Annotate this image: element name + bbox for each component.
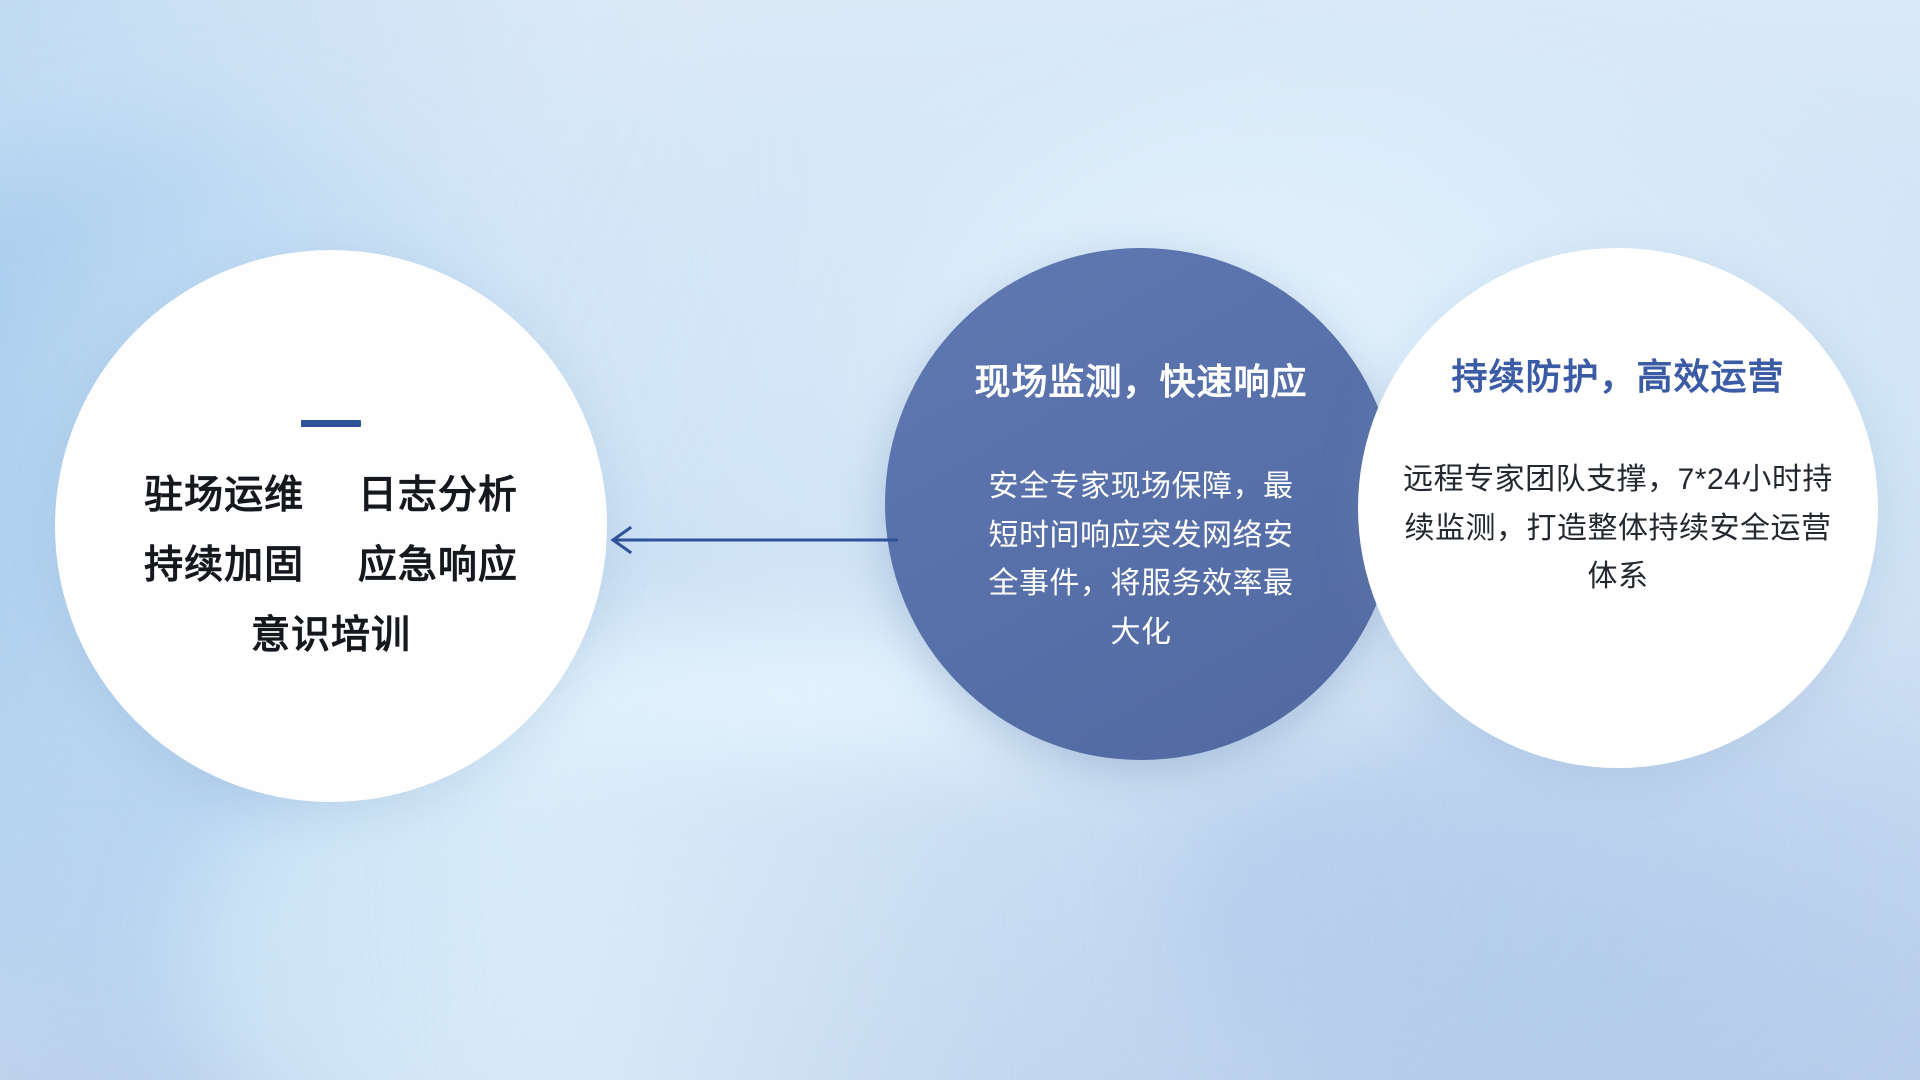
capability-row-2: 持续加固 应急响应: [144, 545, 518, 587]
middle-service-circle: 现场监测，快速响应 安全专家现场保障，最短时间响应突发网络安全事件，将服务效率最…: [885, 248, 1397, 760]
right-circle-body: 远程专家团队支撑，7*24小时持续监测，打造整体持续安全运营体系: [1403, 456, 1833, 602]
capability-label-emergency-response: 应急响应: [358, 544, 518, 587]
right-service-circle: 持续防护，高效运营 远程专家团队支撑，7*24小时持续监测，打造整体持续安全运营…: [1358, 248, 1878, 768]
left-capability-circle: 驻场运维 日志分析 持续加固 应急响应 意识培训: [55, 250, 607, 802]
slide-canvas: 驻场运维 日志分析 持续加固 应急响应 意识培训 现场监测，快速响应 安全专家现…: [0, 0, 1920, 1080]
capability-label-onsite-ops: 驻场运维: [144, 474, 304, 517]
capability-row-3: 意识培训: [251, 615, 411, 657]
horizontal-dash-divider-icon: [301, 420, 361, 427]
middle-circle-heading: 现场监测，快速响应: [974, 353, 1307, 405]
capability-label-awareness-training: 意识培训: [251, 614, 411, 657]
right-circle-heading: 持续防护，高效运营: [1451, 348, 1784, 400]
left-arrow-icon: [600, 520, 900, 560]
capability-label-log-analysis: 日志分析: [358, 474, 518, 517]
capability-label-continuous-hardening: 持续加固: [144, 544, 304, 587]
middle-circle-body: 安全专家现场保障，最短时间响应突发网络安全事件，将服务效率最大化: [976, 463, 1306, 657]
capability-row-1: 驻场运维 日志分析: [144, 475, 518, 517]
